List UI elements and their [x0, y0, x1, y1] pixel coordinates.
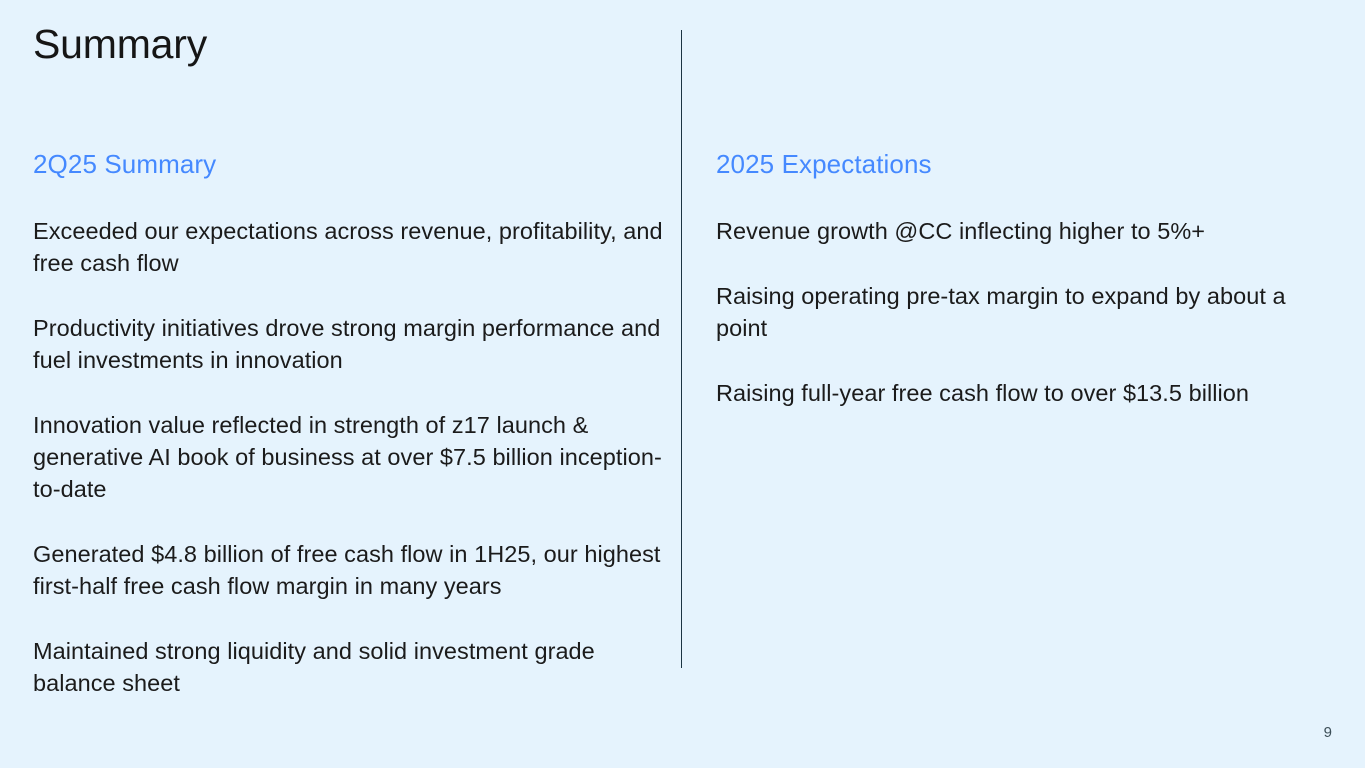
list-item: Productivity initiatives drove strong ma… [33, 312, 663, 376]
list-item: Maintained strong liquidity and solid in… [33, 635, 663, 699]
slide-root: Summary 2Q25 Summary Exceeded our expect… [0, 0, 1365, 768]
list-item: Exceeded our expectations across revenue… [33, 215, 663, 279]
list-item: Innovation value reflected in strength o… [33, 409, 663, 505]
list-item: Generated $4.8 billion of free cash flow… [33, 538, 663, 602]
right-bullet-list: Revenue growth @CC inflecting higher to … [716, 215, 1336, 409]
column-divider [681, 30, 682, 668]
list-item: Raising full-year free cash flow to over… [716, 377, 1336, 409]
left-column-heading: 2Q25 Summary [33, 148, 663, 181]
left-bullet-list: Exceeded our expectations across revenue… [33, 215, 663, 699]
page-title: Summary [33, 22, 207, 68]
list-item: Raising operating pre-tax margin to expa… [716, 280, 1336, 344]
left-column: 2Q25 Summary Exceeded our expectations a… [33, 148, 663, 699]
right-column: 2025 Expectations Revenue growth @CC inf… [716, 148, 1336, 409]
page-number: 9 [1324, 725, 1332, 740]
list-item: Revenue growth @CC inflecting higher to … [716, 215, 1336, 247]
right-column-heading: 2025 Expectations [716, 148, 1336, 181]
